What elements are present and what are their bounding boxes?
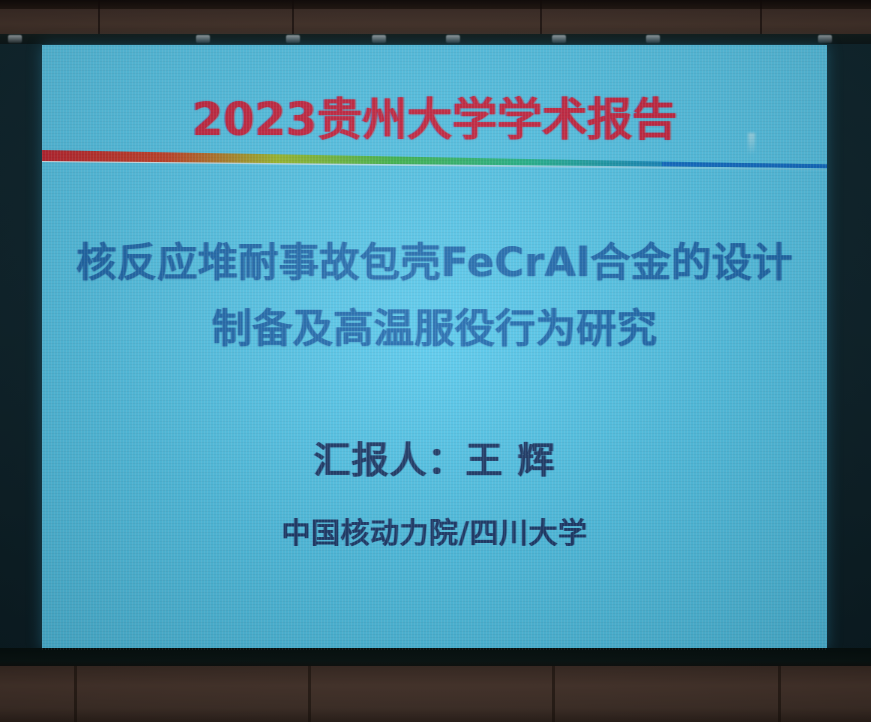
wall-seam xyxy=(552,666,555,722)
rail-glint xyxy=(196,35,210,43)
presenter-affiliation: 中国核动力院/四川大学 xyxy=(42,510,827,552)
gradient-rule xyxy=(42,141,827,181)
ceiling-shadow xyxy=(0,0,871,9)
rail-glint xyxy=(446,35,460,43)
presenter-name: 汇报人：王 辉 xyxy=(42,430,827,484)
screen-light-artifact xyxy=(748,133,755,155)
wall-seam xyxy=(308,666,311,722)
rail-glint xyxy=(818,35,832,43)
lecture-hall-photo: 2023贵州大学学术报告 xyxy=(0,0,871,722)
rail-glint xyxy=(646,35,660,43)
slide-title-line-2: 制备及高温服役行为研究 xyxy=(42,296,827,362)
rail-glint xyxy=(286,35,300,43)
slide-title-line-1: 核反应堆耐事故包壳FeCrAl合金的设计 xyxy=(42,230,827,296)
rail-glint xyxy=(372,35,386,43)
rail-glint xyxy=(552,35,566,43)
slide-title: 核反应堆耐事故包壳FeCrAl合金的设计 制备及高温服役行为研究 xyxy=(42,230,827,362)
slide-heading: 2023贵州大学学术报告 xyxy=(42,83,827,148)
presentation-slide: 2023贵州大学学术报告 xyxy=(42,45,827,650)
wall-seam xyxy=(778,666,781,722)
wall-seam xyxy=(74,666,77,722)
wall-panel-bottom xyxy=(0,666,871,722)
rail-glint xyxy=(8,35,22,43)
